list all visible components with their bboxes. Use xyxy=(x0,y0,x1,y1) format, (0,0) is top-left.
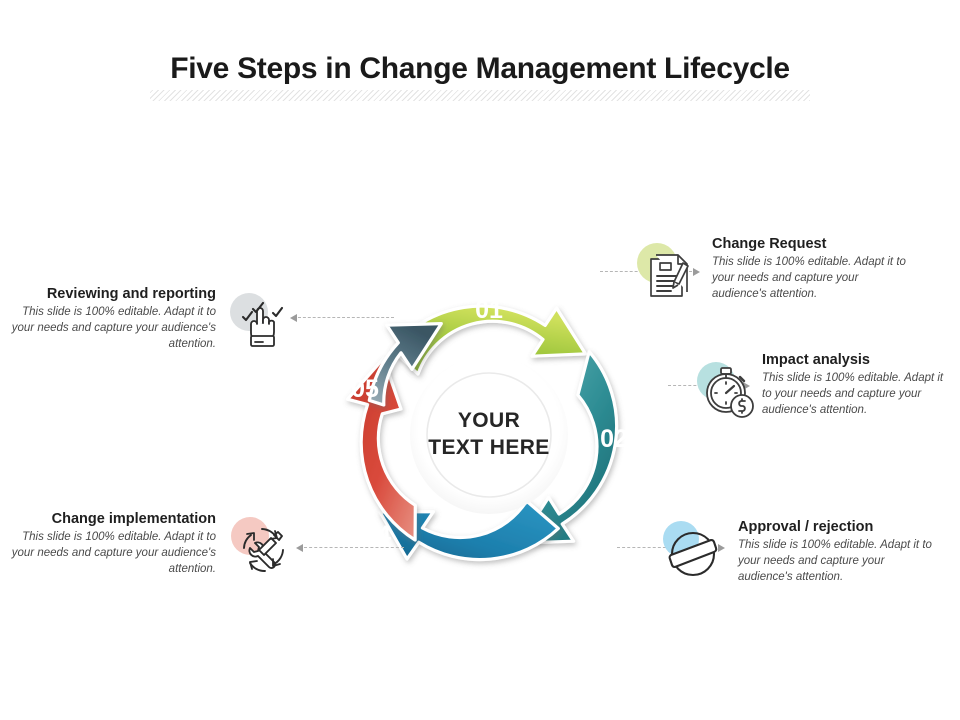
stopwatch-money-icon xyxy=(697,360,761,424)
hand-checkmarks-icon xyxy=(230,291,294,355)
callout-step-05-title: Reviewing and reporting xyxy=(8,286,216,302)
cycle-diagram: 01 02 03 04 05 xyxy=(297,243,681,627)
callout-step-04: Change implementation This slide is 100%… xyxy=(8,511,216,578)
connector-step-05 xyxy=(290,313,394,323)
callout-step-02-title: Impact analysis xyxy=(762,352,954,368)
connector-dash xyxy=(304,547,404,548)
icon-step-05 xyxy=(230,291,294,355)
title-underline-band xyxy=(150,90,810,101)
callout-step-02-body: This slide is 100% editable. Adapt it to… xyxy=(762,371,954,419)
callout-step-03: Approval / rejection This slide is 100% … xyxy=(738,519,938,586)
cycle-segment-05-number: 05 xyxy=(351,375,379,403)
callout-step-01: Change Request This slide is 100% editab… xyxy=(712,236,912,303)
tools-cycle-icon xyxy=(231,517,295,581)
icon-step-04 xyxy=(231,517,295,581)
callout-step-05-body: This slide is 100% editable. Adapt it to… xyxy=(8,305,216,353)
callout-step-04-title: Change implementation xyxy=(8,511,216,527)
callout-step-03-body: This slide is 100% editable. Adapt it to… xyxy=(738,538,938,586)
cycle-segment-03-number: 03 xyxy=(538,560,566,588)
cycle-segment-01-number: 01 xyxy=(475,296,503,324)
badge-circle-icon xyxy=(661,521,725,585)
connector-arrowhead xyxy=(296,544,303,552)
connector-dash xyxy=(298,317,394,318)
callout-step-03-title: Approval / rejection xyxy=(738,519,938,535)
callout-step-01-title: Change Request xyxy=(712,236,912,252)
document-pen-icon xyxy=(637,243,701,307)
icon-step-03 xyxy=(661,521,725,585)
cycle-segment-02-number: 02 xyxy=(600,425,628,453)
callout-step-01-body: This slide is 100% editable. Adapt it to… xyxy=(712,255,912,303)
page-title: Five Steps in Change Management Lifecycl… xyxy=(156,52,804,92)
callout-step-02: Impact analysis This slide is 100% edita… xyxy=(762,352,954,419)
icon-step-02 xyxy=(697,360,761,424)
connector-step-04 xyxy=(296,543,404,553)
inner-ring xyxy=(427,373,551,497)
icon-step-01 xyxy=(637,243,701,307)
slide-canvas: Five Steps in Change Management Lifecycl… xyxy=(0,0,960,720)
callout-step-05: Reviewing and reporting This slide is 10… xyxy=(8,286,216,353)
callout-step-04-body: This slide is 100% editable. Adapt it to… xyxy=(8,530,216,578)
title-block: Five Steps in Change Management Lifecycl… xyxy=(0,52,960,92)
